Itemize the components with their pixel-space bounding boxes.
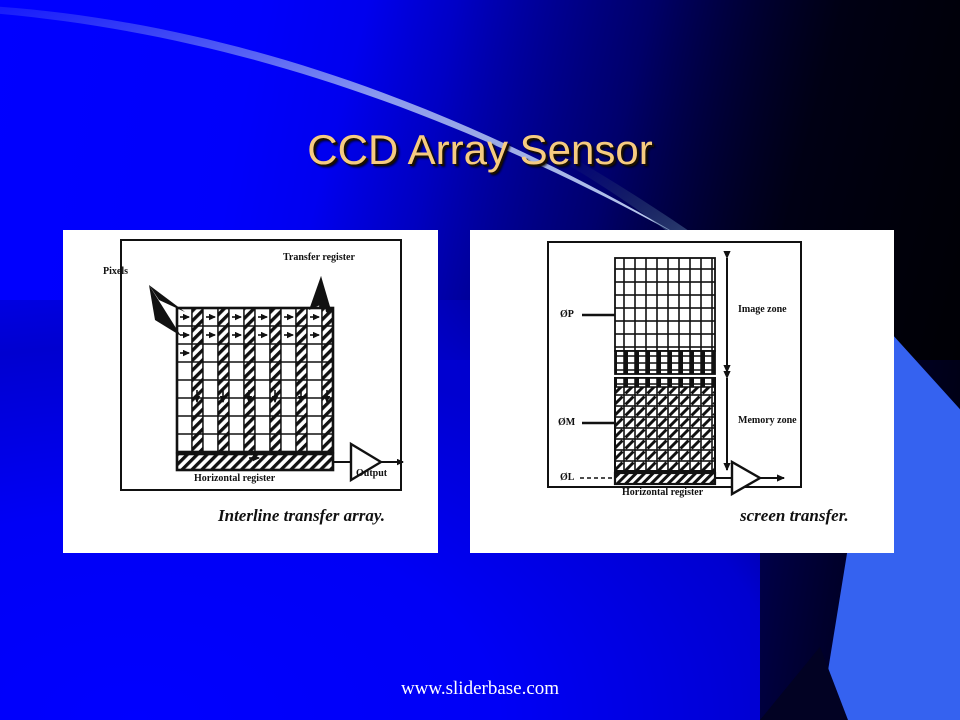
label-image-zone: Image zone [738, 304, 787, 315]
page-title: CCD Array Sensor [0, 126, 960, 174]
label-phi-p: ØP [560, 309, 574, 320]
label-output: Output [356, 468, 387, 479]
frame-transfer-diagram [470, 230, 894, 553]
slide: CCD Array Sensor [0, 0, 960, 720]
figure-panel-interline: Pixels Transfer register Horizontal regi… [63, 230, 438, 553]
label-phi-m: ØM [558, 417, 575, 428]
interline-transfer-diagram [63, 230, 438, 553]
label-horizontal-register-right: Horizontal register [622, 487, 703, 498]
label-memory-zone: Memory zone [738, 415, 797, 426]
footer-url: www.sliderbase.com [0, 678, 960, 700]
figure-panel-frame-transfer: ØP ØM ØL Image zone Memory zone Horizont… [470, 230, 894, 553]
label-pixels: Pixels [103, 266, 128, 277]
label-horizontal-register: Horizontal register [194, 473, 275, 484]
label-phi-l: ØL [560, 472, 574, 483]
figure-caption-frame-transfer: screen transfer. [740, 506, 849, 526]
figure-caption-interline: Interline transfer array. [218, 506, 385, 526]
label-transfer-register: Transfer register [283, 252, 355, 263]
